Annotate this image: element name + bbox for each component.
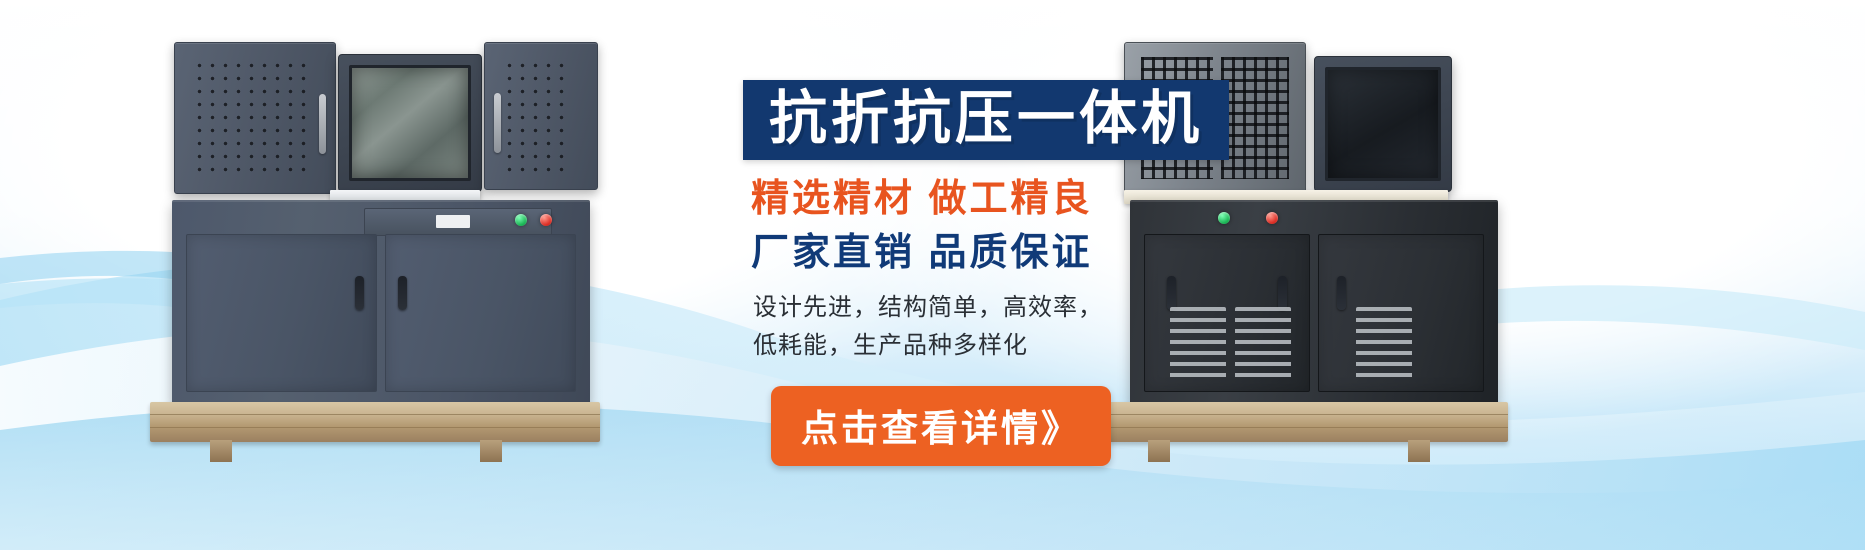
perforated-panel: [503, 59, 571, 173]
control-label-plate: [436, 215, 470, 228]
door-handle: [398, 276, 407, 310]
left-machine-upper-right-cabinet: [484, 42, 598, 190]
page-title: 抗折抗压一体机: [769, 90, 1203, 148]
green-indicator-icon: [515, 214, 527, 226]
door-handle: [1337, 276, 1346, 310]
headline-bar: 抗折抗压一体机: [743, 80, 1229, 160]
cabinet-door: [186, 234, 377, 392]
promo-banner: 抗折抗压一体机 精选精材 做工精良 厂家直销 品质保证 设计先进，结构简单，高效…: [0, 0, 1865, 550]
pallet-leg: [480, 440, 502, 462]
subtitle-blue: 厂家直销 品质保证: [751, 232, 1303, 276]
right-machine-monitor: [1314, 56, 1452, 192]
cabinet-door: [1318, 234, 1484, 392]
left-machine-base-cabinet: [172, 200, 590, 406]
ventilation-louvers: [1356, 307, 1412, 379]
cabinet-door: [385, 234, 576, 392]
monitor-screen: [1325, 67, 1441, 181]
cabinet-handle: [494, 93, 501, 153]
pallet-leg: [210, 440, 232, 462]
monitor-screen: [349, 65, 471, 181]
left-machine-upper-left-cabinet: [174, 42, 336, 194]
left-machine-wooden-pallet: [150, 402, 600, 442]
description-text: 设计先进，结构简单，高效率， 低耗能，生产品种多样化: [753, 289, 1303, 363]
left-machine-monitor: [338, 54, 482, 192]
product-photo-left: [150, 42, 600, 442]
description-line-1: 设计先进，结构简单，高效率，: [753, 289, 1303, 326]
description-line-2: 低耗能，生产品种多样化: [753, 327, 1303, 364]
perforated-panel: [193, 59, 309, 177]
cabinet-handle: [319, 94, 326, 154]
subtitle-orange: 精选精材 做工精良: [751, 178, 1303, 222]
view-details-button[interactable]: 点击查看详情》: [771, 386, 1111, 466]
pallet-leg: [1408, 440, 1430, 462]
promo-copy-block: 抗折抗压一体机 精选精材 做工精良 厂家直销 品质保证 设计先进，结构简单，高效…: [743, 80, 1303, 466]
door-handle: [355, 276, 364, 310]
red-indicator-icon: [540, 214, 552, 226]
